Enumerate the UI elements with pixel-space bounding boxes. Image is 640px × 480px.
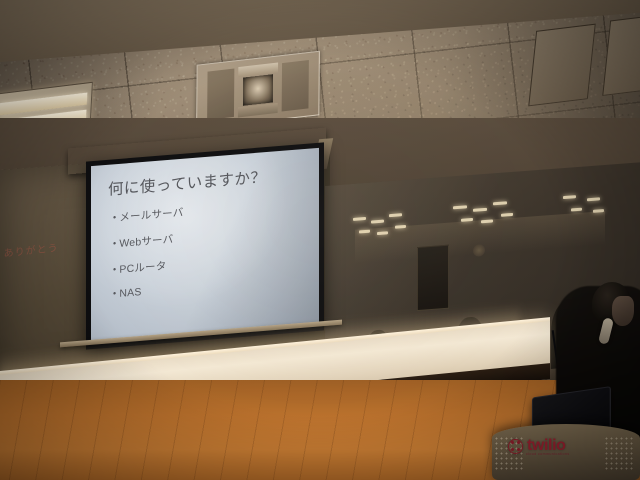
adjacent-ceiling-light xyxy=(453,205,467,209)
adjacent-ceiling-light xyxy=(473,208,487,212)
twilio-tagline: cloud communications xyxy=(526,452,570,456)
conference-room-photo: ありがとう 何に使っていますか？ •メールサーバ •Webサーバ •PCルータ … xyxy=(0,0,640,480)
bullet-text: NAS xyxy=(119,286,141,300)
adjacent-ceiling-light xyxy=(501,213,513,217)
podium: twilio cloud communications xyxy=(492,424,640,480)
adjacent-ceiling-light xyxy=(389,213,402,217)
bullet-icon: • xyxy=(113,288,116,298)
adjacent-ceiling-light xyxy=(587,197,600,201)
slide-bullet-list: •メールサーバ •Webサーバ •PCルータ •NAS xyxy=(108,194,319,301)
projector-screen-frame: 何に使っていますか？ •メールサーバ •Webサーバ •PCルータ •NAS xyxy=(86,142,324,349)
adjacent-ceiling-light xyxy=(571,208,582,212)
whiteboard-writing: ありがとう xyxy=(3,240,66,281)
bullet-icon: • xyxy=(113,212,116,222)
adjacent-ceiling-light xyxy=(563,195,576,199)
slide-title: 何に使っていますか？ xyxy=(108,161,319,200)
bullet-text: PCルータ xyxy=(119,260,166,276)
adjacent-ceiling-light xyxy=(353,217,366,221)
bullet-icon: • xyxy=(113,264,116,274)
adjacent-door xyxy=(417,245,449,311)
bullet-text: メールサーバ xyxy=(119,207,183,224)
podium-perforation-right xyxy=(604,436,634,472)
list-item: •Webサーバ xyxy=(113,220,319,252)
adjacent-ceiling-light xyxy=(493,201,507,205)
list-item: •PCルータ xyxy=(113,246,319,278)
list-item: •メールサーバ xyxy=(113,194,319,226)
speaker-face xyxy=(612,296,634,326)
wall-clock-icon xyxy=(473,244,485,257)
twilio-mark-icon xyxy=(508,439,523,454)
slide-content: 何に使っていますか？ •メールサーバ •Webサーバ •PCルータ •NAS xyxy=(91,148,319,302)
projected-slide: 何に使っていますか？ •メールサーバ •Webサーバ •PCルータ •NAS xyxy=(91,148,319,344)
bullet-icon: • xyxy=(113,238,116,248)
bullet-text: Webサーバ xyxy=(119,234,173,250)
list-item: •NAS xyxy=(113,272,319,301)
ceiling-panel-right-1 xyxy=(528,24,595,107)
adjacent-ceiling-light xyxy=(371,220,384,224)
